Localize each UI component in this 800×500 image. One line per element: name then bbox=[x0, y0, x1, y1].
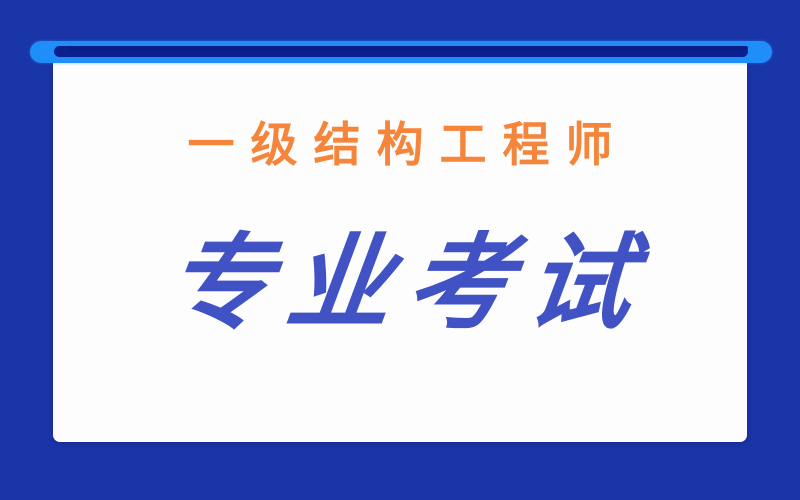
poster-text-block: 一级结构工程师 专业考试 bbox=[53, 58, 747, 442]
poster-title: 专业考试 bbox=[146, 231, 655, 335]
poster-canvas: 一级结构工程师 专业考试 bbox=[0, 0, 800, 500]
poster-subtitle: 一级结构工程师 bbox=[172, 122, 629, 169]
top-accent-bar-inner-stripe bbox=[54, 46, 748, 57]
